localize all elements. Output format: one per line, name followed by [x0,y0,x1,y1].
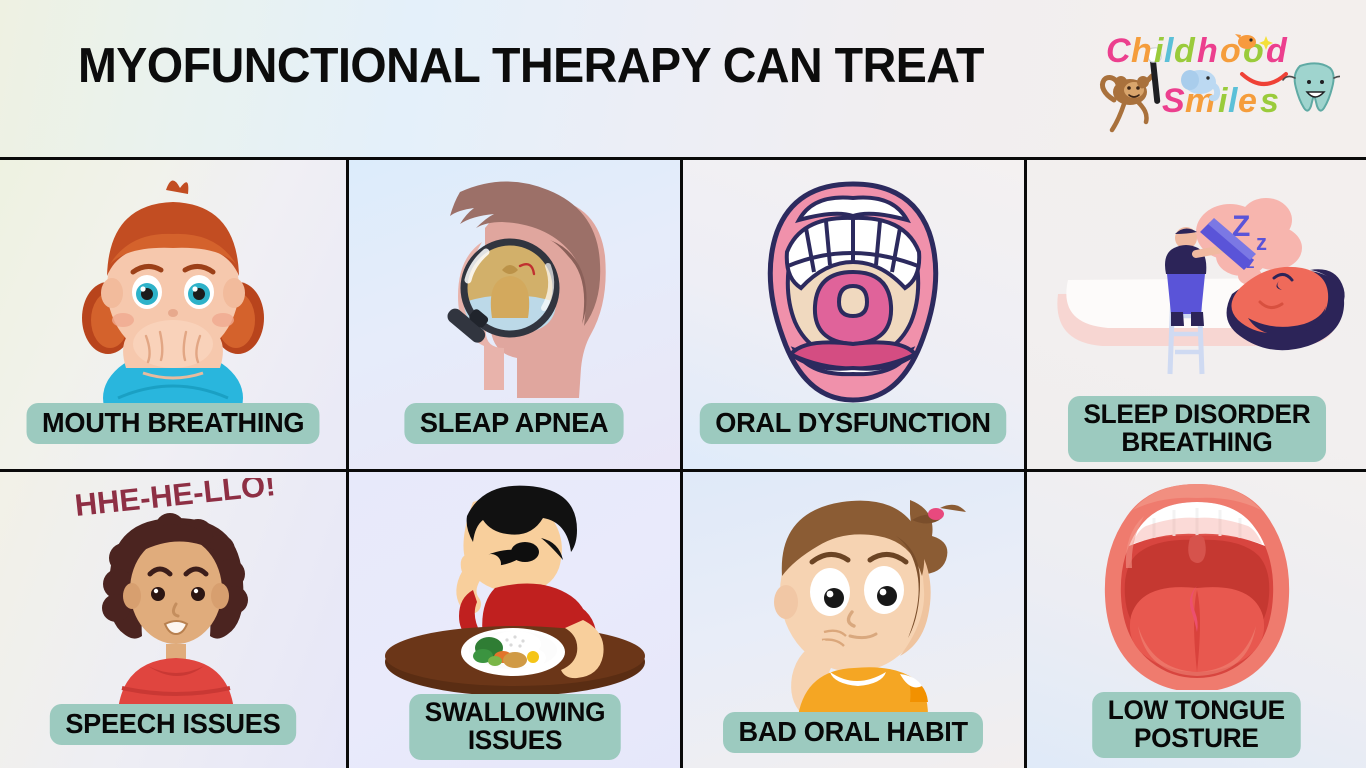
label-wrap-sleep-disorder-breathing: SLEEP DISORDER BREATHING [1027,396,1366,462]
svg-text:h: h [1197,32,1218,70]
head-profile-magnifier-illustration [349,170,680,415]
open-mouth-low-tongue-illustration [1027,478,1366,690]
svg-text:d: d [1266,32,1288,70]
infographic-page: MYOFUNCTIONAL THERAPY CAN TREAT [0,0,1366,768]
svg-text:z: z [1256,230,1267,255]
childhood-smiles-logo: C h i l d h o o d [1090,20,1340,138]
page-title: MYOFUNCTIONAL THERAPY CAN TREAT [78,38,984,94]
cell-swallowing-issues: SWALLOWING ISSUES [349,472,683,768]
label-low-tongue-posture: LOW TONGUE POSTURE [1092,692,1300,758]
svg-text:S: S [1162,82,1185,120]
cell-oral-dysfunction: ORAL DYSFUNCTION [683,160,1027,472]
label-wrap-bad-oral-habit: BAD ORAL HABIT [683,712,1024,753]
label-wrap-speech-issues: SPEECH ISSUES [0,704,346,745]
child-stuttering-illustration: HHE-HE-LLO! [0,478,346,710]
label-wrap-mouth-breathing: MOUTH BREATHING [0,403,346,444]
label-wrap-oral-dysfunction: ORAL DYSFUNCTION [683,403,1024,444]
cell-mouth-breathing: MOUTH BREATHING [0,160,349,472]
label-wrap-sleap-apnea: SLEAP APNEA [349,403,680,444]
cell-sleep-disorder-breathing: Z z z [1027,160,1366,472]
label-speech-issues: SPEECH ISSUES [50,704,296,745]
label-sleap-apnea: SLEAP APNEA [405,403,625,444]
logo-line-1: C h i l d h o o d [1106,32,1288,70]
tooth-character-icon [1283,63,1340,110]
label-mouth-breathing: MOUTH BREATHING [26,403,319,444]
label-wrap-swallowing-issues: SWALLOWING ISSUES [349,694,680,760]
header-bar: MYOFUNCTIONAL THERAPY CAN TREAT [0,0,1366,157]
girl-covering-mouth-illustration [0,168,346,418]
svg-text:h: h [1131,32,1152,70]
label-swallowing-issues: SWALLOWING ISSUES [409,694,620,760]
cell-bad-oral-habit: BAD ORAL HABIT [683,472,1027,768]
label-wrap-low-tongue-posture: LOW TONGUE POSTURE [1027,692,1366,758]
svg-text:d: d [1174,32,1196,70]
cell-speech-issues: HHE-HE-LLO! [0,472,349,768]
sleeping-person-zzz-illustration: Z z z [1027,176,1366,391]
label-oral-dysfunction: ORAL DYSFUNCTION [700,403,1007,444]
cell-sleap-apnea: SLEAP APNEA [349,160,683,472]
label-sleep-disorder-breathing: SLEEP DISORDER BREATHING [1068,396,1326,462]
svg-text:o: o [1220,32,1241,70]
cell-low-tongue-posture: LOW TONGUE POSTURE [1027,472,1366,768]
svg-text:C: C [1106,32,1131,70]
boy-eating-at-table-illustration [349,480,680,695]
open-mouth-uvula-illustration [683,178,1024,408]
svg-text:s: s [1260,82,1279,120]
monkey-icon [1102,76,1152,130]
logo-line-2: S m i l e s [1162,82,1279,120]
label-bad-oral-habit: BAD ORAL HABIT [723,712,983,753]
condition-grid: MOUTH BREATHING [0,157,1366,768]
svg-text:e: e [1238,82,1257,120]
girl-thumb-sucking-illustration [683,480,1024,715]
